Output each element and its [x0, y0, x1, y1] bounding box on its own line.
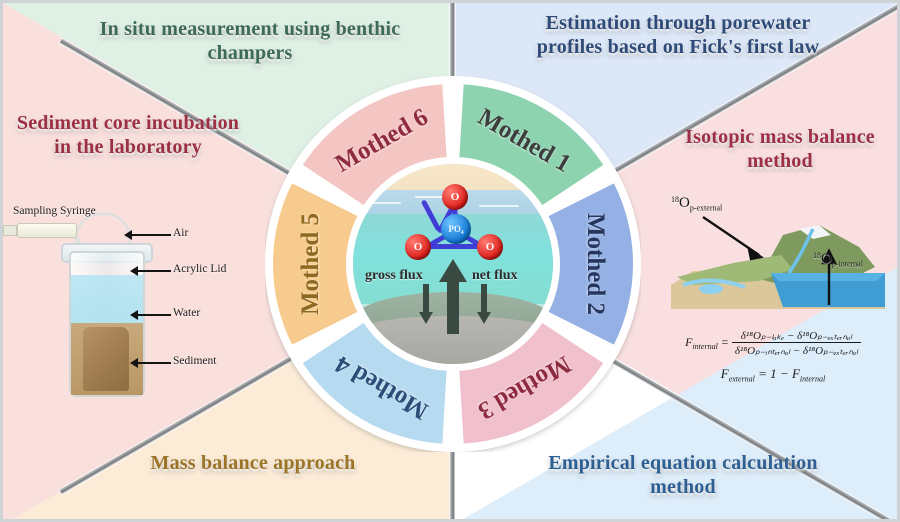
formula-numerator: δ¹⁸Oₚ₋ₗₐₖₑ − δ¹⁸Oₚ₋ₑₓₜₑᵣₙₐₗ: [732, 329, 861, 342]
formula-fraction: δ¹⁸Oₚ₋ₗₐₖₑ − δ¹⁸Oₚ₋ₑₓₜₑᵣₙₐₗ δ¹⁸Oₚ₋ᵢₙₜₑᵣₙ…: [732, 329, 861, 357]
formula-equals: =: [721, 335, 729, 349]
label-acrylic-lid: Acrylic Lid: [173, 263, 226, 275]
label-o18-p-external: 18Op-external: [671, 195, 722, 212]
formula-external-lhs-sub: external: [729, 375, 755, 384]
syringe-plunger: [3, 225, 17, 236]
flux-arrows: [353, 164, 553, 364]
formula-external-rhs-sub: internal: [800, 375, 825, 384]
caption-empirical-equation: Empirical equation calculation method: [523, 451, 843, 500]
wheel-segment-label-2: Mothed 2: [581, 213, 609, 315]
isotope-symbol-external: O: [679, 195, 690, 211]
formula-external-lhs: F: [721, 366, 729, 381]
formula-denominator: δ¹⁸Oₚ₋ᵢₙₜₑᵣₙₐₗ − δ¹⁸Oₚ₋ₑₓₜₑᵣₙₐₗ: [732, 342, 861, 357]
sediment-core-incubation-illustration: Sampling Syringe Air Acrylic Lid Water S…: [11, 203, 257, 403]
formula-external-rhs: = 1 − F: [758, 366, 800, 381]
caption-sediment-core-incubation: Sediment core incubation in the laborato…: [13, 111, 243, 160]
caption-mass-balance-approach: Mass balance approach: [123, 451, 383, 475]
formula-f-external: Fexternal = 1 − Finternal: [651, 366, 895, 384]
isotope-superscript-external: 18: [671, 195, 679, 204]
arrow-to-lid: [137, 270, 171, 272]
isotope-subscript-internal: p-internal: [832, 259, 863, 268]
figure-canvas: In situ measurement using benthic champe…: [0, 0, 900, 522]
sampling-syringe: [17, 223, 77, 238]
wheel-segment-label-5: Mothed 5: [297, 213, 325, 315]
tubing: [75, 213, 131, 247]
isotope-superscript-internal: 18: [813, 251, 821, 260]
label-water: Water: [173, 307, 200, 319]
caption-isotopic-mass-balance: Isotopic mass balance method: [671, 125, 889, 174]
label-sampling-syringe: Sampling Syringe: [13, 205, 96, 217]
isotopic-formulas: Finternal = δ¹⁸Oₚ₋ₗₐₖₑ − δ¹⁸Oₚ₋ₑₓₜₑᵣₙₐₗ …: [651, 329, 895, 384]
arrow-to-sediment: [137, 362, 171, 364]
isotopic-landscape-illustration: 18Op-external 18Op-internal: [663, 189, 893, 319]
tube-sediment-core: [83, 327, 129, 391]
caption-porewater-fick-law: Estimation through porewater profiles ba…: [513, 11, 843, 60]
label-sediment: Sediment: [173, 355, 216, 367]
arrow-to-water: [137, 314, 171, 316]
pond: [699, 284, 723, 294]
formula-lhs-sub: internal: [692, 342, 717, 351]
label-air: Air: [173, 227, 188, 239]
arrow-to-air: [131, 234, 171, 236]
isotope-subscript-external: p-external: [690, 203, 722, 212]
label-o18-p-internal: 18Op-internal: [813, 251, 863, 268]
formula-f-internal: Finternal = δ¹⁸Oₚ₋ₗₐₖₑ − δ¹⁸Oₚ₋ₑₓₜₑᵣₙₐₗ …: [651, 329, 895, 357]
sediment-water-interface-scene: O O O PO₄ gross flux net flux: [353, 164, 553, 364]
caption-in-situ-benthic-chambers: In situ measurement using benthic champe…: [95, 17, 405, 66]
isotope-symbol-internal: O: [821, 251, 832, 267]
